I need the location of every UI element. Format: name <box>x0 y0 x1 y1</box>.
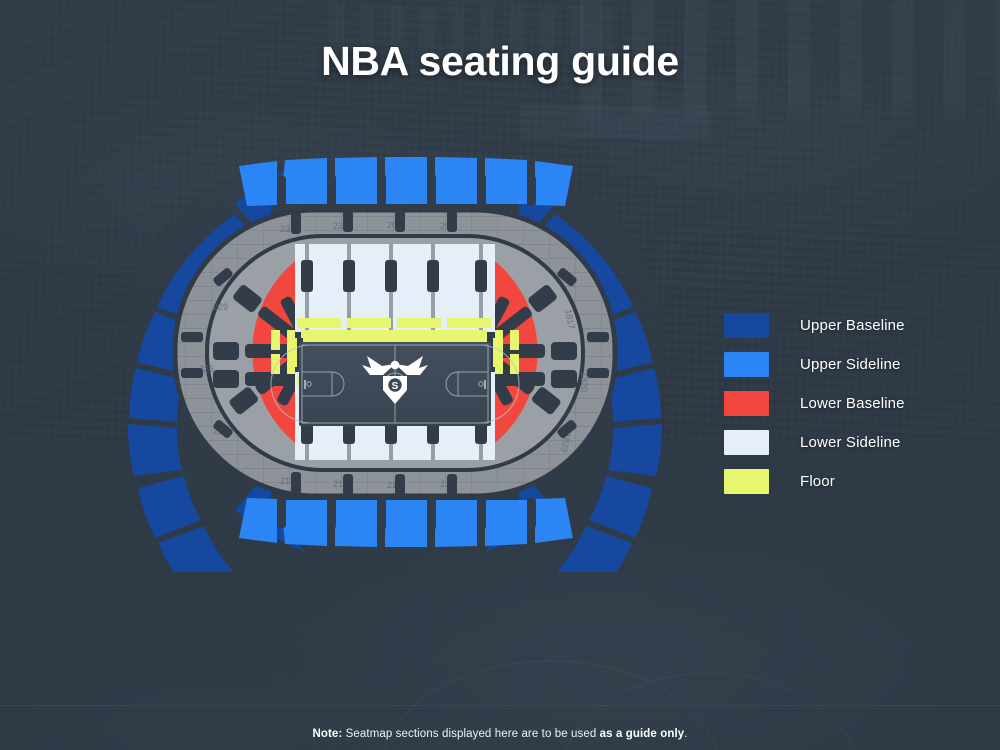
footer-note: Note: Seatmap sections displayed here ar… <box>0 728 1000 740</box>
legend-item-floor[interactable]: Floor <box>724 462 984 501</box>
svg-text:229: 229 <box>213 302 228 312</box>
upper-sideline-bottom[interactable] <box>239 498 573 547</box>
legend-item-upper-sideline[interactable]: Upper Sideline <box>724 345 984 384</box>
footer-note-text: Seatmap sections displayed here are to b… <box>342 728 599 740</box>
page-title: NBA seating guide <box>0 38 1000 85</box>
legend-swatch-lower-baseline <box>724 391 769 416</box>
legend-label-upper-baseline: Upper Baseline <box>800 317 905 334</box>
footer-note-suffix: . <box>684 728 687 740</box>
legend-swatch-upper-sideline <box>724 352 769 377</box>
seatmap-svg[interactable]: 233 234 201 202 229 226 223 219 218 217 … <box>95 132 695 572</box>
legend-label-lower-sideline: Lower Sideline <box>800 434 901 451</box>
footer-note-prefix: Note: <box>312 728 342 740</box>
legend-item-lower-sideline[interactable]: Lower Sideline <box>724 423 984 462</box>
upper-sideline-top[interactable] <box>239 157 573 206</box>
legend-item-upper-baseline[interactable]: Upper Baseline <box>724 306 984 345</box>
legend-label-floor: Floor <box>800 473 835 490</box>
legend: Upper Baseline Upper Sideline Lower Base… <box>724 306 984 501</box>
logo-shield-letter: S <box>388 378 403 393</box>
svg-text:S: S <box>392 381 399 392</box>
legend-label-upper-sideline: Upper Sideline <box>800 356 901 373</box>
legend-label-lower-baseline: Lower Baseline <box>800 395 905 412</box>
legend-swatch-floor <box>724 469 769 494</box>
legend-swatch-lower-sideline <box>724 430 769 455</box>
legend-item-lower-baseline[interactable]: Lower Baseline <box>724 384 984 423</box>
footer-divider <box>0 705 1000 706</box>
legend-swatch-upper-baseline <box>724 313 769 338</box>
arena-seatmap[interactable]: 233 234 201 202 229 226 223 219 218 217 … <box>95 132 695 572</box>
footer-note-emphasis: as a guide only <box>600 728 685 740</box>
